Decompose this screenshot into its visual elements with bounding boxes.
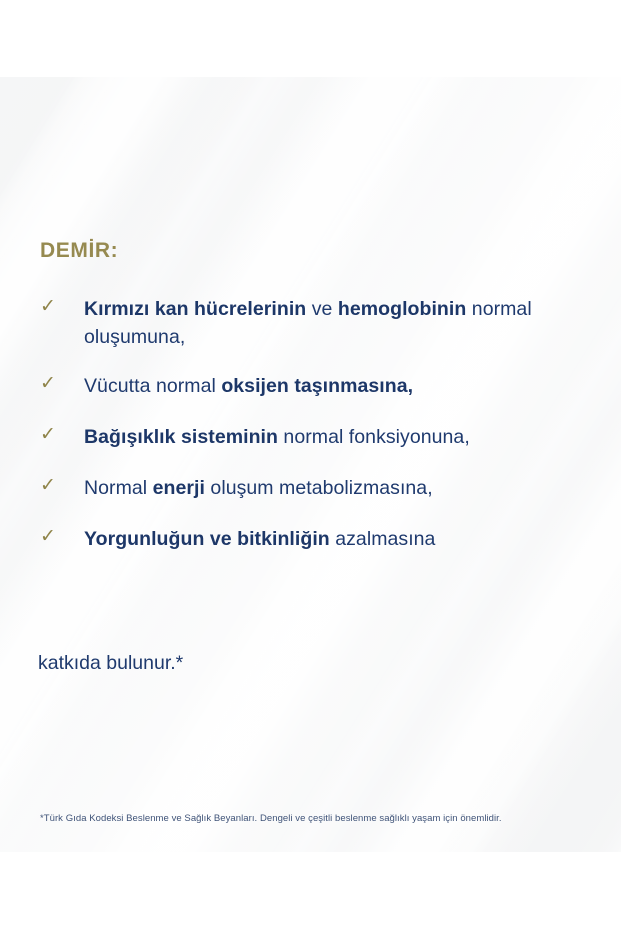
benefit-emphasis: hemoglobinin bbox=[338, 298, 466, 320]
benefit-emphasis: Bağışıklık sisteminin bbox=[84, 426, 278, 448]
check-icon: ✓ bbox=[40, 526, 60, 546]
benefit-text: Bağışıklık sisteminin normal fonksiyonun… bbox=[84, 423, 595, 451]
benefit-emphasis: Kırmızı kan hücrelerinin bbox=[84, 298, 306, 320]
benefit-emphasis: oksijen taşınmasına, bbox=[221, 375, 413, 397]
benefit-plain: normal fonksiyonuna, bbox=[278, 426, 470, 448]
benefit-emphasis: enerji bbox=[153, 477, 205, 499]
check-icon: ✓ bbox=[40, 296, 60, 316]
benefit-item-red-blood-cells: ✓Kırmızı kan hücrelerinin ve hemoglobini… bbox=[0, 295, 621, 351]
benefit-text: Vücutta normal oksijen taşınmasına, bbox=[84, 372, 595, 400]
benefit-item-immune-system: ✓Bağışıklık sisteminin normal fonksiyonu… bbox=[0, 423, 621, 453]
benefits-list: ✓Kırmızı kan hücrelerinin ve hemoglobini… bbox=[0, 295, 621, 576]
benefit-item-energy-metabolism: ✓Normal enerji oluşum metabolizmasına, bbox=[0, 474, 621, 504]
benefit-item-fatigue-reduction: ✓Yorgunluğun ve bitkinliğin azalmasına bbox=[0, 525, 621, 555]
benefit-plain: ve bbox=[306, 298, 338, 320]
benefit-text: Normal enerji oluşum metabolizmasına, bbox=[84, 474, 595, 502]
benefit-emphasis: Yorgunluğun ve bitkinliğin bbox=[84, 528, 330, 550]
section-title-demir: DEMİR: bbox=[40, 240, 118, 261]
check-icon: ✓ bbox=[40, 475, 60, 495]
benefit-plain: azalmasına bbox=[330, 528, 436, 550]
benefit-item-oxygen-transport: ✓Vücutta normal oksijen taşınmasına, bbox=[0, 372, 621, 402]
check-icon: ✓ bbox=[40, 424, 60, 444]
benefit-plain: oluşum metabolizmasına, bbox=[205, 477, 433, 499]
card-content: DEMİR: ✓Kırmızı kan hücrelerinin ve hemo… bbox=[0, 77, 621, 852]
benefit-plain: Normal bbox=[84, 477, 153, 499]
check-icon: ✓ bbox=[40, 373, 60, 393]
benefit-text: Kırmızı kan hücrelerinin ve hemoglobinin… bbox=[84, 295, 595, 351]
footnote-text: *Türk Gıda Kodeksi Beslenme ve Sağlık Be… bbox=[40, 812, 600, 825]
closing-line: katkıda bulunur.* bbox=[38, 649, 183, 677]
page-background: DEMİR: ✓Kırmızı kan hücrelerinin ve hemo… bbox=[0, 0, 621, 931]
benefit-plain: Vücutta normal bbox=[84, 375, 221, 397]
benefit-text: Yorgunluğun ve bitkinliğin azalmasına bbox=[84, 525, 595, 553]
